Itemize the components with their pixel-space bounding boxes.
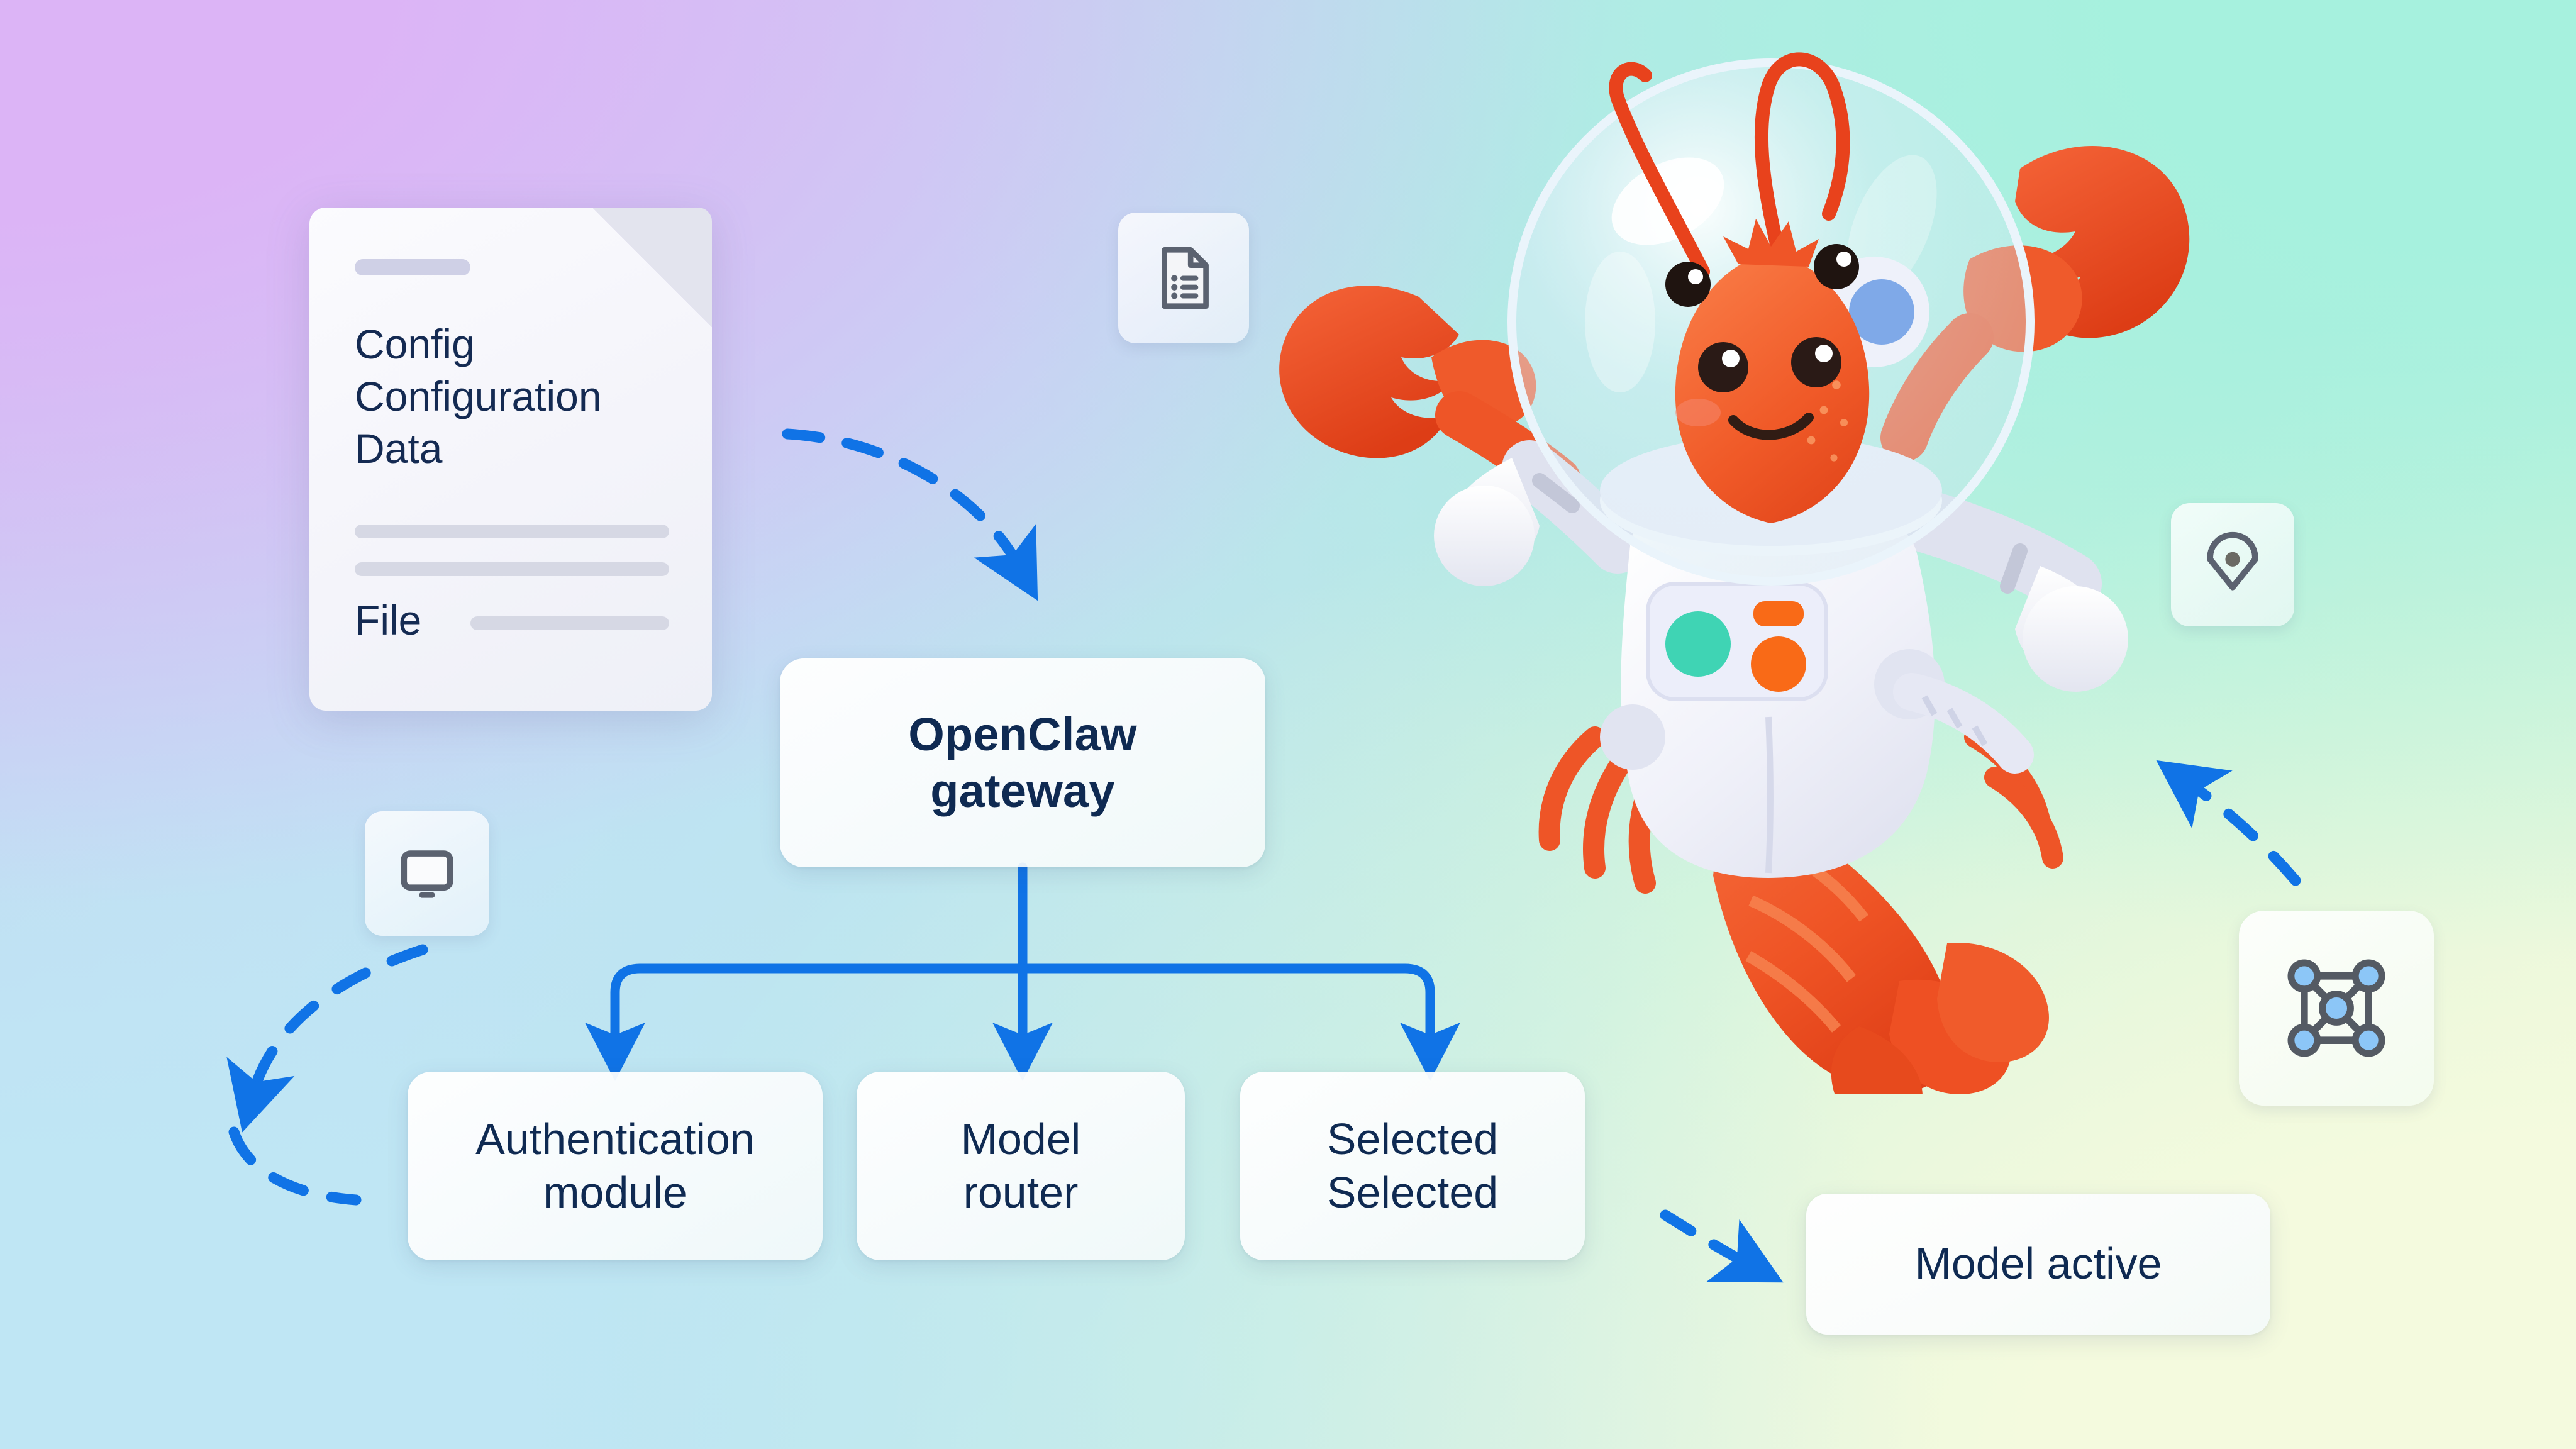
monitor-icon[interactable] <box>365 811 489 936</box>
connector-config-to-gateway <box>787 434 1019 566</box>
node-model-active-label: Model active <box>1915 1237 2162 1291</box>
node-model-active[interactable]: Model active <box>1806 1194 2270 1335</box>
connector-monitor-loop <box>234 950 423 1200</box>
document-list-glyph <box>1145 240 1222 316</box>
node-model-router-label: Modelrouter <box>961 1113 1081 1220</box>
network-graph-glyph <box>2278 950 2395 1067</box>
node-selected-label: SelectedSelected <box>1327 1113 1498 1220</box>
config-file-card[interactable]: Config Configuration Data File <box>309 208 712 711</box>
gateway-node-label: OpenClawgateway <box>908 706 1136 820</box>
connector-to-model-active <box>1665 1215 1748 1264</box>
document-list-icon[interactable] <box>1118 213 1249 343</box>
network-graph-icon[interactable] <box>2239 911 2434 1106</box>
diagram-canvas: Config Configuration Data File <box>0 0 2576 1449</box>
gateway-node[interactable]: OpenClawgateway <box>780 658 1265 867</box>
suit-indicator-orange-bar <box>1753 601 1804 626</box>
config-card-title: Config Configuration Data <box>355 318 669 475</box>
config-card-file-label: File <box>355 596 421 644</box>
astronaut-lobster-mascot <box>1270 38 2226 1094</box>
suit-indicator-orange-dot <box>1751 636 1806 692</box>
node-model-router[interactable]: Modelrouter <box>857 1072 1185 1260</box>
doc-line-3 <box>470 616 669 630</box>
suit-indicator-teal <box>1665 611 1731 677</box>
doc-line-1 <box>355 525 669 538</box>
node-selected[interactable]: SelectedSelected <box>1240 1072 1585 1260</box>
node-authentication-module-label: Authenticationmodule <box>475 1113 755 1220</box>
node-authentication-module[interactable]: Authenticationmodule <box>408 1072 823 1260</box>
doc-line-2 <box>355 562 669 576</box>
doc-accent-bar <box>355 259 470 275</box>
monitor-glyph <box>391 837 464 910</box>
